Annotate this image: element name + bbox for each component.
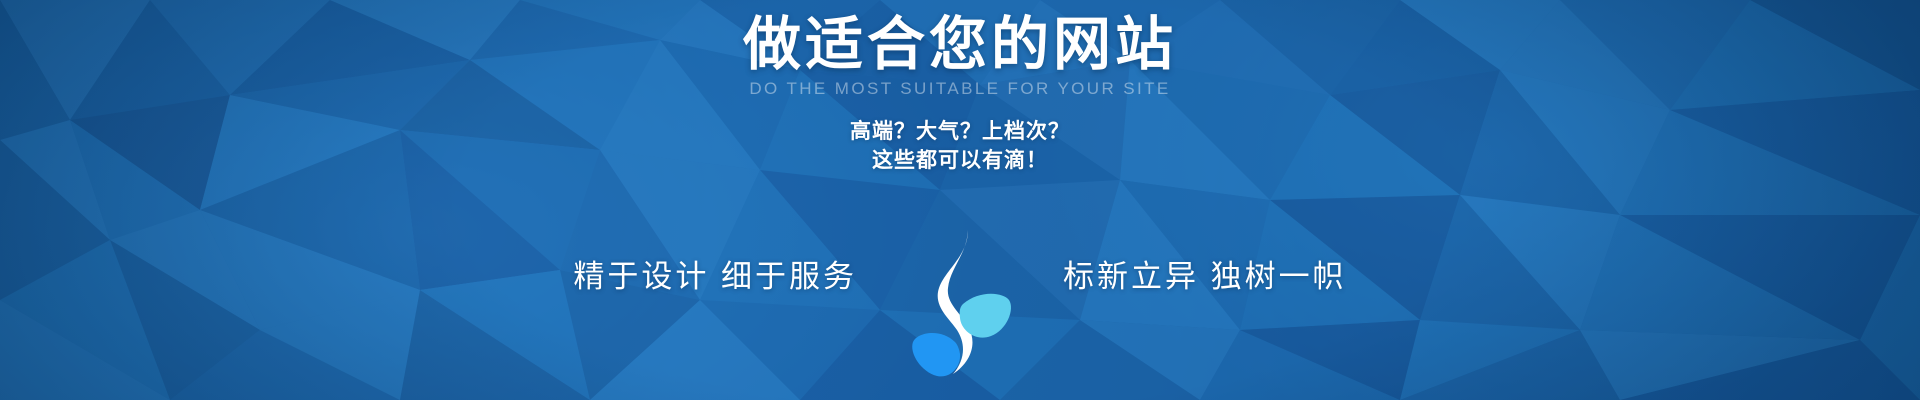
page-title: 做适合您的网站 bbox=[743, 14, 1177, 77]
slogan-line-1: 高端？大气？上档次？ bbox=[850, 117, 1070, 147]
logo-leaf-lower bbox=[912, 333, 960, 376]
slogan-line-2: 这些都可以有滴！ bbox=[850, 146, 1070, 176]
logo-leaf-upper bbox=[960, 294, 1011, 338]
leaf-sprout-logo bbox=[905, 226, 1015, 376]
tagline-row: 精于设计 细于服务 标新立异 独树一帜 bbox=[0, 198, 1920, 348]
hero-banner: 做适合您的网站 DO THE MOST SUITABLE FOR YOUR SI… bbox=[0, 0, 1920, 400]
slogan-block: 高端？大气？上档次？ 这些都可以有滴！ bbox=[850, 117, 1070, 177]
tagline-left: 精于设计 细于服务 bbox=[557, 251, 905, 296]
subtitle-english: DO THE MOST SUITABLE FOR YOUR SITE bbox=[749, 79, 1170, 99]
banner-content: 做适合您的网站 DO THE MOST SUITABLE FOR YOUR SI… bbox=[0, 0, 1920, 400]
tagline-right: 标新立异 独树一帜 bbox=[1015, 251, 1363, 296]
